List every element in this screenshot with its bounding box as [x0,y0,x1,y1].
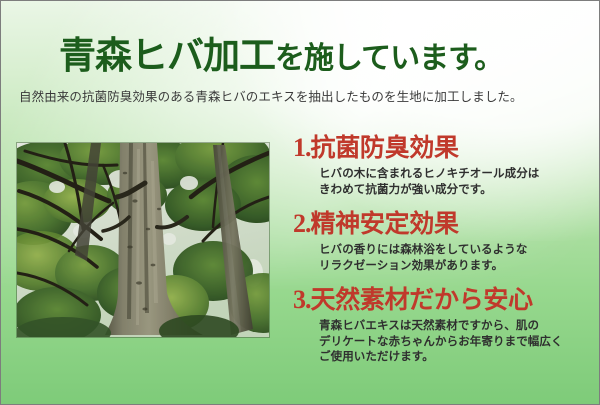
page-title-main: 青森ヒバ加工 [59,36,275,77]
benefit-description-line: きわめて抗菌力が強い成分です。 [319,183,593,199]
benefit-item-3: 3.天然素材だから安心 青森ヒバエキスは天然素材ですから、肌の デリケートな赤ち… [293,285,593,366]
benefit-description-2: ヒバの香りには森林浴をしているような リラクゼーション効果があります。 [319,243,593,274]
promo-banner: 青森ヒバ加工を施しています。 自然由来の抗菌防臭効果のある青森ヒバのエキスを抽出… [0,0,600,405]
benefit-title-1: 抗菌防臭効果 [311,135,459,162]
benefit-heading-3: 3.天然素材だから安心 [293,285,593,316]
benefit-description-line: ヒバの木に含まれるヒノキチオール成分は [319,167,593,183]
benefit-description-3: 青森ヒバエキスは天然素材ですから、肌の デリケートな赤ちゃんからお年寄りまで幅広… [319,319,593,366]
benefit-description-line: ヒバの香りには森林浴をしているような [319,243,593,259]
benefit-description-line: デリケートな赤ちゃんからお年寄りまで幅広く [319,335,593,351]
benefit-title-3: 天然素材だから安心 [311,287,533,314]
benefit-description-line: 青森ヒバエキスは天然素材ですから、肌の [319,319,593,335]
benefit-number-3: 3. [293,285,311,314]
page-title: 青森ヒバ加工を施しています。 [59,35,559,81]
page-title-tail: を施しています。 [275,42,503,75]
benefit-heading-2: 2.精神安定効果 [293,209,593,240]
benefit-description-1: ヒバの木に含まれるヒノキチオール成分は きわめて抗菌力が強い成分です。 [319,167,593,198]
benefit-title-2: 精神安定効果 [311,211,459,238]
benefit-description-line: ご使用いただけます。 [319,350,593,366]
benefit-number-2: 2. [293,209,311,238]
benefit-item-2: 2.精神安定効果 ヒバの香りには森林浴をしているような リラクゼーション効果があ… [293,209,593,274]
benefit-item-1: 1.抗菌防臭効果 ヒバの木に含まれるヒノキチオール成分は きわめて抗菌力が強い成… [293,133,593,198]
benefits-list: 1.抗菌防臭効果 ヒバの木に含まれるヒノキチオール成分は きわめて抗菌力が強い成… [293,133,593,370]
page-subtitle: 自然由来の抗菌防臭効果のある青森ヒバのエキスを抽出したものを生地に加工しました。 [19,89,587,106]
forest-photo-illustration [17,143,269,337]
benefit-description-line: リラクゼーション効果があります。 [319,259,593,275]
benefit-number-1: 1. [293,133,311,162]
benefit-heading-1: 1.抗菌防臭効果 [293,133,593,164]
forest-photo [17,143,269,337]
